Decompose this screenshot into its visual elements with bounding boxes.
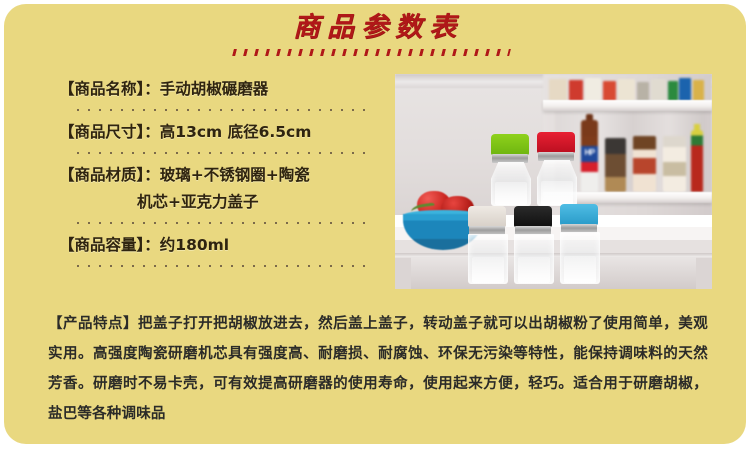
dotted-divider [77,262,369,271]
spread-jar [633,136,656,192]
yellow-panel: 商品参数表 【商品名称】：手动胡椒碾磨器 【商品尺寸】：高13cm 底径6.5c… [4,4,746,444]
grinder-contents [541,181,573,205]
spec-list: 【商品名称】：手动胡椒碾磨器 【商品尺寸】：高13cm 底径6.5cm 【商品材… [59,76,389,275]
package-box [618,79,635,101]
black-grinder [514,206,552,284]
grinder-contents [518,257,550,283]
package-box [637,82,649,101]
grinder-contents [564,256,596,283]
grinder-glass-body [560,232,600,284]
spec-material-line-2: 机芯+亚克力盖子 [59,189,389,216]
package-box [569,80,583,101]
grinder-glass-body [514,234,554,284]
package-box [585,78,601,101]
grinder-cap [514,206,552,227]
title-container: 商品参数表 [4,12,746,44]
spec-separator: ： [144,123,160,141]
page-title: 商品参数表 [287,12,463,44]
package-box [693,80,704,101]
top-shelf-packages [547,78,712,101]
grinder-glass-body [537,160,577,206]
spec-label: 【商品容量】 [59,236,144,254]
spec-value: 高13cm 底径6.5cm [160,123,312,141]
feature-body: 把盖子打开把胡椒放进去，然后盖上盖子，转动盖子就可以出胡椒粉了使用简单，美观实用… [48,316,708,422]
grinder-glass-body [468,234,508,284]
red-grinder [537,132,575,206]
spec-label: 【商品材质】 [59,166,144,184]
dotted-divider [77,106,369,115]
grinder-cap [491,134,529,155]
grinder-contents [495,182,527,205]
spec-value: 手动胡椒碾磨器 [160,80,269,98]
spec-capacity-line: 【商品容量】：约180ml [59,232,389,259]
green-grinder [491,134,529,206]
spec-row-capacity: 【商品容量】：约180ml [59,232,389,271]
spec-separator: ： [144,166,160,184]
package-box [651,79,666,101]
feature-description: 【产品特点】把盖子打开把胡椒放进去，然后盖上盖子，转动盖子就可以出胡椒粉了使用简… [48,309,708,429]
spec-size-line: 【商品尺寸】：高13cm 底径6.5cm [59,119,389,146]
spec-separator: ： [144,80,160,98]
spec-name-line: 【商品名称】：手动胡椒碾磨器 [59,76,389,103]
package-box [603,81,616,101]
package-box [679,78,691,101]
spec-row-name: 【商品名称】：手动胡椒碾磨器 [59,76,389,115]
spec-label: 【商品名称】 [59,80,144,98]
feature-paragraph: 【产品特点】把盖子打开把胡椒放进去，然后盖上盖子，转动盖子就可以出胡椒粉了使用简… [48,309,708,429]
blue-grinder [560,204,598,284]
grinder-steel-ring [538,152,574,161]
spice-jar-dark [605,138,626,192]
package-box [668,81,678,101]
spec-label: 【商品尺寸】 [59,123,144,141]
dotted-divider [77,149,369,158]
product-photo: HP [395,74,712,289]
mayo-jar [663,136,686,192]
grinder-cap [468,206,506,227]
grinder-glass-body [491,162,531,206]
spec-separator: ： [144,236,160,254]
jar-band [633,158,656,174]
grinder-cap [537,132,575,153]
spec-row-size: 【商品尺寸】：高13cm 底径6.5cm [59,119,389,158]
jar-band [663,162,686,176]
photo-scene: HP [395,74,712,289]
spec-value: 玻璃+不锈钢圈+陶瓷 [160,166,310,184]
spec-material-line: 【商品材质】：玻璃+不锈钢圈+陶瓷 [59,162,389,189]
shelf-board-upper [543,100,712,111]
hot-sauce-bottle [691,130,703,192]
grinder-cap [560,204,598,225]
grinder-steel-ring [492,154,528,163]
spec-value: 约180ml [160,236,229,254]
dotted-divider [77,219,369,228]
product-spec-page: 商品参数表 【商品名称】：手动胡椒碾磨器 【商品尺寸】：高13cm 底径6.5c… [0,0,750,449]
spec-row-material: 【商品材质】：玻璃+不锈钢圈+陶瓷 机芯+亚克力盖子 [59,162,389,228]
feature-heading: 【产品特点】 [48,316,138,332]
package-box [549,79,567,101]
white-grinder [468,206,506,284]
title-dotted-underline [232,49,511,56]
grinder-contents [472,257,504,283]
hp-sauce-text: HP [581,148,598,157]
